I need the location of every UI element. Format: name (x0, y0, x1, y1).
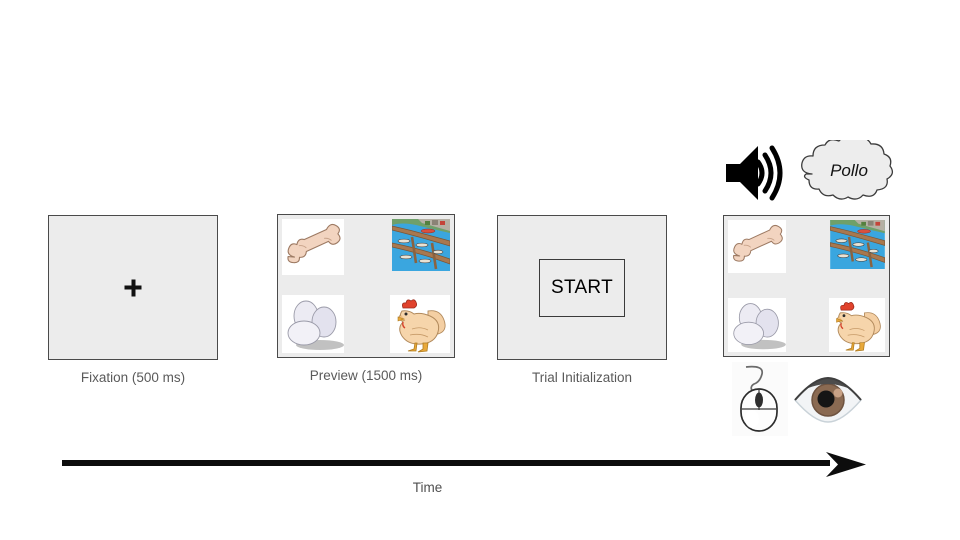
fixation-cross-icon (125, 279, 142, 296)
trial-initialization-caption: Trial Initialization (497, 368, 667, 387)
speaker-icon (722, 142, 794, 204)
computer-mouse-icon (732, 362, 788, 436)
preview-image-grid (278, 215, 454, 357)
eggs-image (728, 298, 786, 352)
response-cell-bottom-left[interactable] (724, 286, 807, 356)
response-cell-top-left[interactable] (724, 216, 807, 286)
response-image-grid (724, 216, 889, 356)
preview-cell-top-left[interactable] (278, 215, 366, 286)
eggs-image (282, 295, 344, 353)
trial-initialization-panel: START (497, 215, 667, 360)
preview-cell-top-right[interactable] (366, 215, 454, 286)
figure-canvas: Fixation (500 ms) (0, 0, 960, 540)
response-modality-row (724, 362, 894, 442)
speech-bubble (794, 140, 900, 202)
eye-tracking-icon (792, 374, 864, 426)
bone-image (282, 219, 344, 275)
response-panel (723, 215, 890, 357)
time-arrow (60, 450, 870, 480)
preview-cell-bottom-left[interactable] (278, 286, 366, 357)
audio-cue-row: Pollo (718, 136, 898, 208)
chicken-image (829, 298, 885, 352)
response-cell-top-right[interactable] (807, 216, 890, 286)
fixation-panel (48, 215, 218, 360)
preview-caption: Preview (1500 ms) (277, 366, 455, 385)
start-button[interactable]: START (539, 259, 625, 317)
dock-image (830, 220, 885, 269)
preview-cell-bottom-right[interactable] (366, 286, 454, 357)
preview-panel (277, 214, 455, 358)
response-cell-bottom-right[interactable] (807, 286, 890, 356)
bone-image (728, 220, 786, 273)
dock-image (392, 219, 450, 271)
time-axis-label: Time (0, 480, 855, 495)
fixation-caption: Fixation (500 ms) (48, 368, 218, 387)
chicken-image (390, 295, 450, 353)
